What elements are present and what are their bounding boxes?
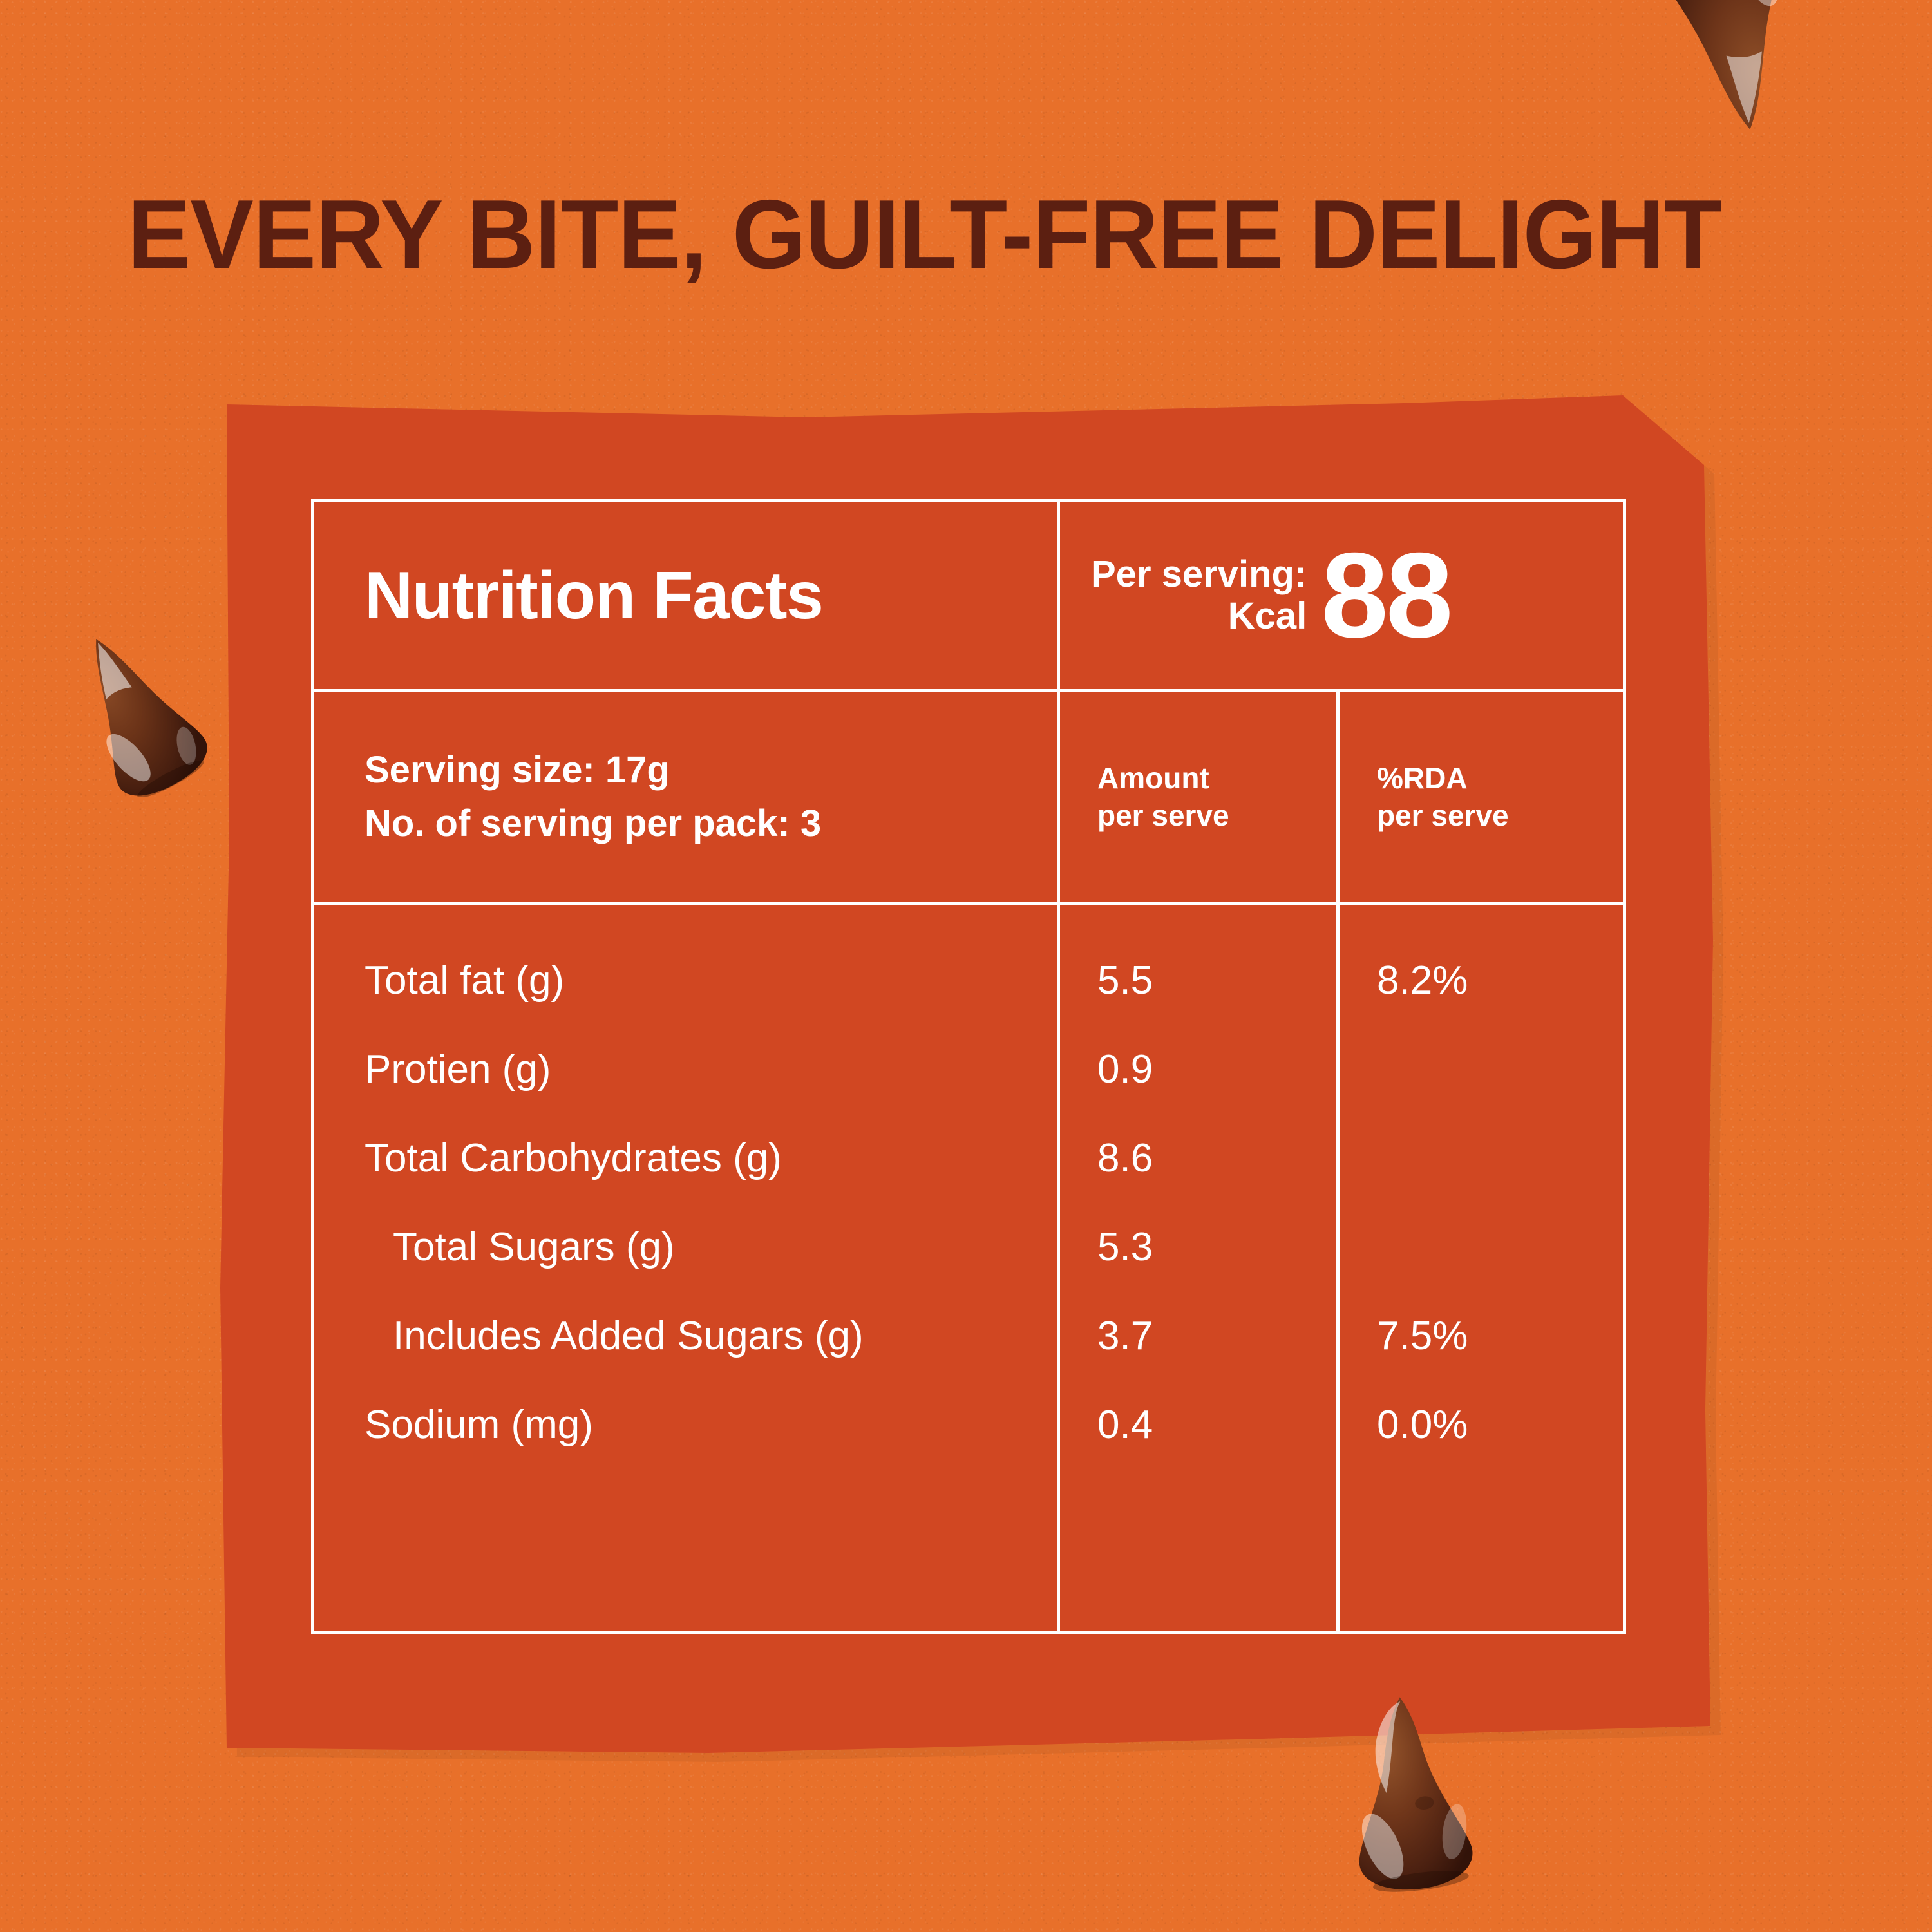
amount-value: 0.9 bbox=[1060, 1025, 1336, 1113]
calories-cell: Per serving: Kcal 88 bbox=[1060, 502, 1623, 689]
amount-value-column: 5.5 0.9 8.6 5.3 3.7 0.4 bbox=[1060, 905, 1340, 1631]
amount-column-header: Amount per serve bbox=[1060, 692, 1340, 902]
poster-canvas: EVERY BITE, GUILT-FREE DELIGHT Nutrition… bbox=[0, 0, 1932, 1932]
nutrition-facts-heading: Nutrition Facts bbox=[365, 558, 822, 634]
chocolate-kiss-icon bbox=[1301, 1686, 1520, 1899]
table-row: Sodium (mg) bbox=[314, 1380, 1057, 1469]
amount-value: 5.3 bbox=[1060, 1202, 1336, 1291]
page-title: EVERY BITE, GUILT-FREE DELIGHT bbox=[128, 185, 1814, 283]
table-row: Protien (g) bbox=[314, 1025, 1057, 1113]
rda-header-line2: per serve bbox=[1377, 797, 1623, 835]
nutrition-facts-table: Nutrition Facts Per serving: Kcal 88 Ser… bbox=[311, 499, 1626, 1634]
calories-labels: Per serving: Kcal bbox=[1091, 554, 1307, 638]
chocolate-kiss-icon bbox=[1592, 0, 1872, 161]
rda-value: 0.0% bbox=[1340, 1380, 1623, 1469]
rda-value bbox=[1340, 1202, 1623, 1291]
amount-value: 0.4 bbox=[1060, 1380, 1336, 1469]
rda-header-line1: %RDA bbox=[1377, 760, 1623, 797]
table-row: Total Carbohydrates (g) bbox=[314, 1113, 1057, 1202]
rda-value: 8.2% bbox=[1340, 936, 1623, 1025]
calories-value: 88 bbox=[1321, 544, 1450, 648]
kcal-label: Kcal bbox=[1228, 596, 1307, 638]
amount-header-line2: per serve bbox=[1097, 797, 1336, 835]
table-body: Total fat (g) Protien (g) Total Carbohyd… bbox=[314, 905, 1623, 1631]
table-header-row-columns: Serving size: 17g No. of serving per pac… bbox=[314, 692, 1623, 905]
nutrient-label-column: Total fat (g) Protien (g) Total Carbohyd… bbox=[314, 905, 1060, 1631]
amount-value: 5.5 bbox=[1060, 936, 1336, 1025]
table-header-row-title: Nutrition Facts Per serving: Kcal 88 bbox=[314, 502, 1623, 692]
table-row: Total fat (g) bbox=[314, 936, 1057, 1025]
amount-value: 8.6 bbox=[1060, 1113, 1336, 1202]
servings-per-pack-text: No. of serving per pack: 3 bbox=[365, 797, 1057, 850]
per-serving-label: Per serving: bbox=[1091, 554, 1307, 596]
rda-value: 7.5% bbox=[1340, 1291, 1623, 1380]
rda-column-header: %RDA per serve bbox=[1340, 692, 1623, 902]
amount-value: 3.7 bbox=[1060, 1291, 1336, 1380]
serving-info-cell: Serving size: 17g No. of serving per pac… bbox=[314, 692, 1060, 902]
table-row: Total Sugars (g) bbox=[314, 1202, 1057, 1291]
chocolate-kiss-icon bbox=[37, 623, 231, 797]
rda-value bbox=[1340, 1113, 1623, 1202]
amount-header-line1: Amount bbox=[1097, 760, 1336, 797]
rda-value-column: 8.2% 7.5% 0.0% bbox=[1340, 905, 1623, 1631]
nutrition-facts-cell: Nutrition Facts bbox=[314, 502, 1060, 689]
table-row: Includes Added Sugars (g) bbox=[314, 1291, 1057, 1380]
serving-size-text: Serving size: 17g bbox=[365, 744, 1057, 797]
rda-value bbox=[1340, 1025, 1623, 1113]
